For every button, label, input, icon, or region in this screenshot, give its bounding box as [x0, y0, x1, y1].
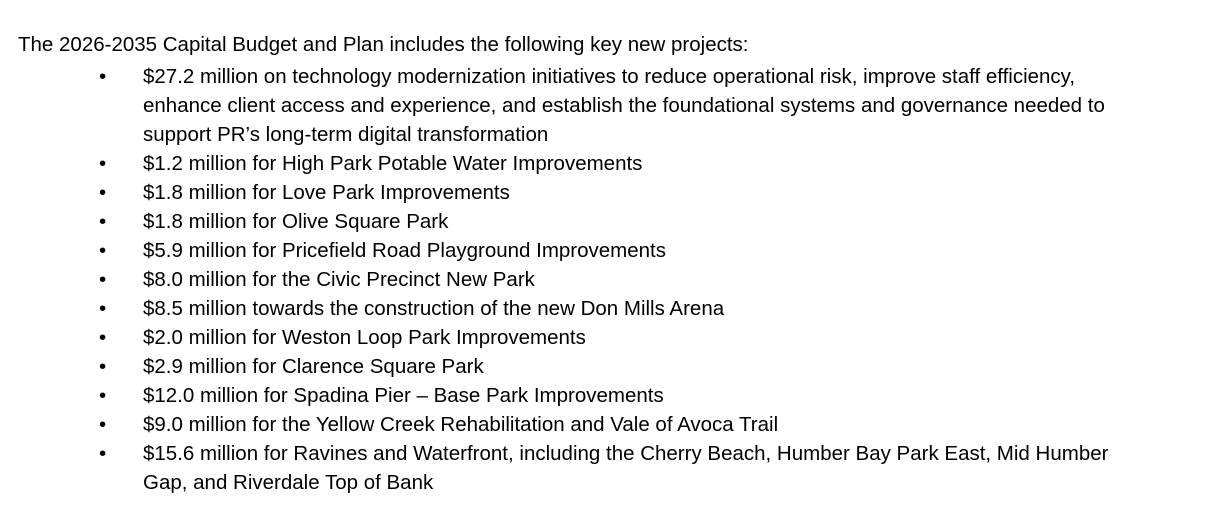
bullet-marker-icon: • — [99, 352, 113, 381]
list-item-text: $8.0 million for the Civic Precinct New … — [143, 265, 1199, 294]
bullet-marker-icon: • — [99, 178, 113, 207]
list-item-text: $12.0 million for Spadina Pier – Base Pa… — [143, 381, 1199, 410]
bullet-marker-icon: • — [99, 323, 113, 352]
list-item: • $1.8 million for Love Park Improvement… — [0, 178, 1217, 207]
list-item: • $8.0 million for the Civic Precinct Ne… — [0, 265, 1217, 294]
list-item: • $27.2 million on technology modernizat… — [0, 62, 1217, 149]
list-item: • $2.0 million for Weston Loop Park Impr… — [0, 323, 1217, 352]
list-item-text: $9.0 million for the Yellow Creek Rehabi… — [143, 410, 1199, 439]
list-item-text: $2.9 million for Clarence Square Park — [143, 352, 1199, 381]
list-item-text: $1.8 million for Love Park Improvements — [143, 178, 1199, 207]
list-item: • $15.6 million for Ravines and Waterfro… — [0, 439, 1217, 497]
bullet-marker-icon: • — [99, 236, 113, 265]
list-item: • $5.9 million for Pricefield Road Playg… — [0, 236, 1217, 265]
bullet-marker-icon: • — [99, 149, 113, 178]
bullet-marker-icon: • — [99, 207, 113, 236]
list-item-text: $5.9 million for Pricefield Road Playgro… — [143, 236, 1199, 265]
list-item-text: $27.2 million on technology modernizatio… — [143, 62, 1143, 149]
bullet-marker-icon: • — [99, 381, 113, 410]
bullet-marker-icon: • — [99, 265, 113, 294]
list-item: • $2.9 million for Clarence Square Park — [0, 352, 1217, 381]
intro-paragraph: The 2026-2035 Capital Budget and Plan in… — [18, 30, 1198, 59]
list-item-text: $1.2 million for High Park Potable Water… — [143, 149, 1199, 178]
list-item-text: $15.6 million for Ravines and Waterfront… — [143, 439, 1145, 497]
bullet-marker-icon: • — [99, 294, 113, 323]
list-item: • $1.8 million for Olive Square Park — [0, 207, 1217, 236]
bullet-marker-icon: • — [99, 62, 113, 91]
list-item: • $9.0 million for the Yellow Creek Reha… — [0, 410, 1217, 439]
bullet-marker-icon: • — [99, 439, 113, 468]
list-item-text: $2.0 million for Weston Loop Park Improv… — [143, 323, 1199, 352]
list-item-text: $1.8 million for Olive Square Park — [143, 207, 1199, 236]
list-item: • $8.5 million towards the construction … — [0, 294, 1217, 323]
document-page: The 2026-2035 Capital Budget and Plan in… — [0, 0, 1217, 507]
list-item: • $12.0 million for Spadina Pier – Base … — [0, 381, 1217, 410]
key-projects-list: • $27.2 million on technology modernizat… — [0, 62, 1217, 497]
list-item: • $1.2 million for High Park Potable Wat… — [0, 149, 1217, 178]
bullet-marker-icon: • — [99, 410, 113, 439]
list-item-text: $8.5 million towards the construction of… — [143, 294, 1199, 323]
